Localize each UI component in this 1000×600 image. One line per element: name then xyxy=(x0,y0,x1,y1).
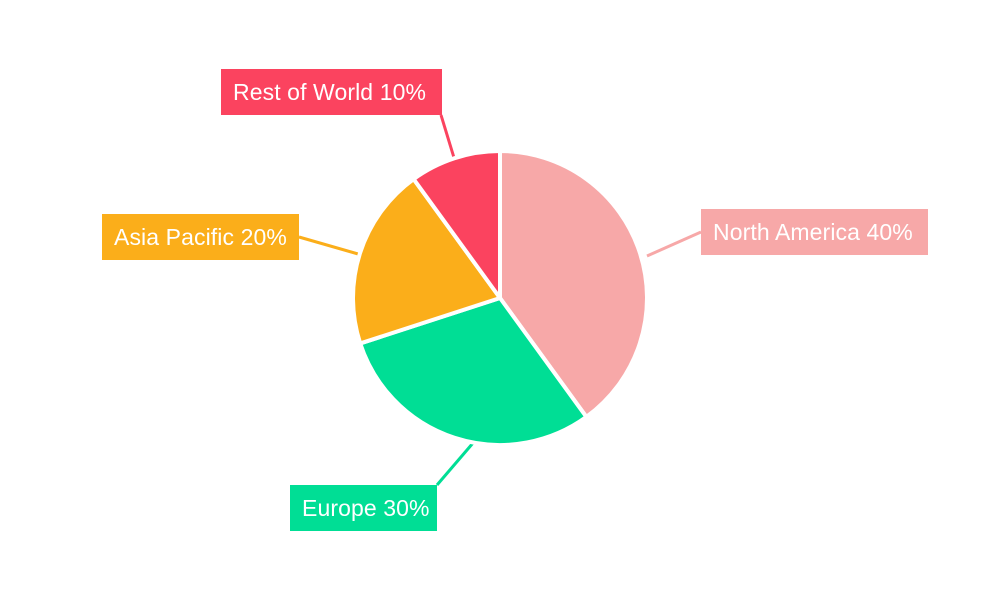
pie-chart: North America 40%Europe 30%Asia Pacific … xyxy=(0,0,1000,600)
pie-label-asia-pacific[interactable]: Asia Pacific 20% xyxy=(102,214,299,260)
pie-label-north-america[interactable]: North America 40% xyxy=(701,209,928,255)
pie-wedges-group xyxy=(353,151,647,445)
leader-line xyxy=(299,237,365,256)
pie-chart-canvas xyxy=(0,0,1000,600)
pie-label-rest-of-world[interactable]: Rest of World 10% xyxy=(221,69,442,115)
leader-line xyxy=(437,443,473,485)
pie-label-europe[interactable]: Europe 30% xyxy=(290,485,437,531)
leader-line xyxy=(441,115,455,161)
leader-line xyxy=(647,232,701,256)
